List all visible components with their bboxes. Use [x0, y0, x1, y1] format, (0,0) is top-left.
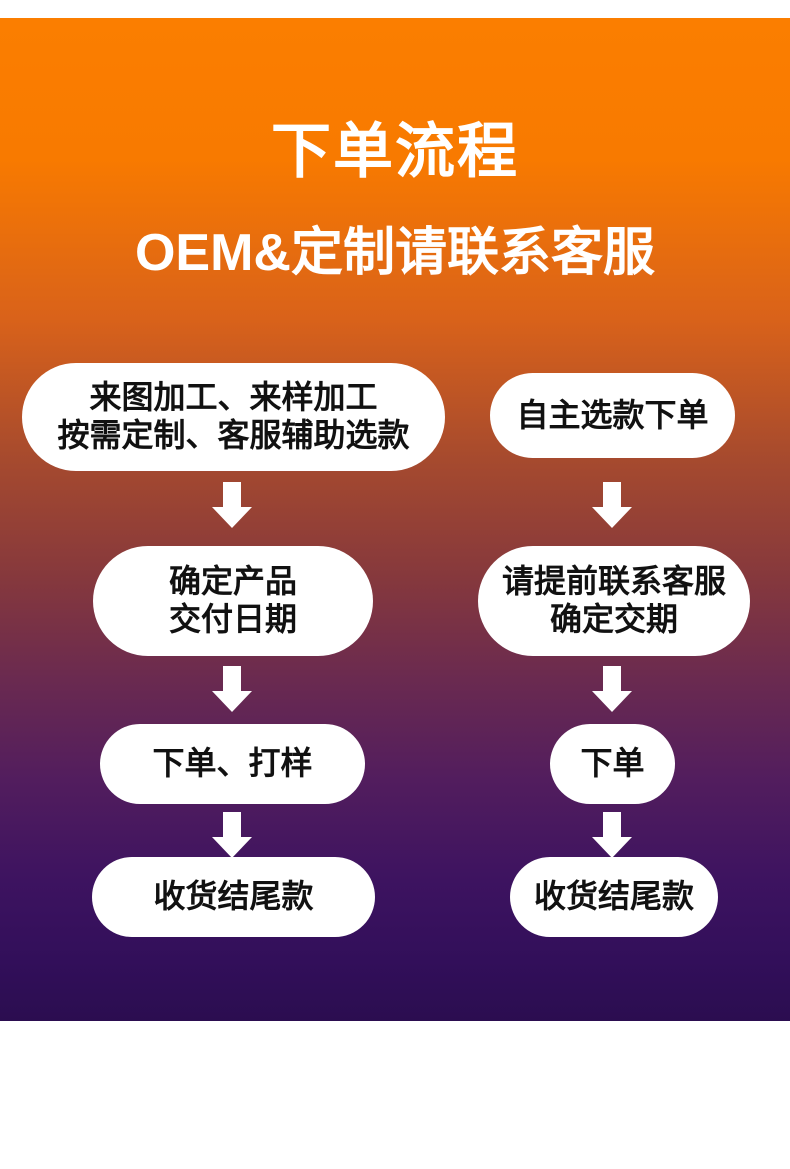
flow-node-right-step-3: 下单 [550, 724, 675, 804]
flow-node-line: 下单 [580, 745, 644, 783]
arrow-down-icon [212, 666, 252, 712]
page-subtitle: OEM&定制请联系客服 [0, 227, 790, 279]
flow-node-line: 自主选款下单 [516, 397, 708, 435]
flow-node-line: 来图加工、来样加工 [89, 379, 377, 417]
flow-node-line: 请提前联系客服 [502, 563, 726, 601]
flow-node-line: 按需定制、客服辅助选款 [57, 417, 409, 455]
flow-node-line: 收货结尾款 [534, 878, 694, 916]
flow-node-left-step-4: 收货结尾款 [92, 857, 375, 937]
flow-node-line: 确定交期 [550, 601, 678, 639]
arrow-down-icon [592, 812, 632, 858]
flow-node-line: 下单、打样 [152, 745, 312, 783]
flow-node-line: 交付日期 [169, 601, 297, 639]
arrow-down-icon [592, 666, 632, 712]
flow-node-right-step-2: 请提前联系客服 确定交期 [478, 546, 750, 656]
flow-node-right-step-1: 自主选款下单 [490, 373, 735, 458]
arrow-down-icon [592, 482, 632, 528]
flow-node-left-step-1: 来图加工、来样加工 按需定制、客服辅助选款 [22, 363, 445, 471]
flow-node-line: 确定产品 [169, 563, 297, 601]
flow-node-line: 收货结尾款 [153, 878, 313, 916]
order-process-infographic: 下单流程 OEM&定制请联系客服 来图加工、来样加工 按需定制、客服辅助选款 确… [0, 0, 790, 1169]
arrow-down-icon [212, 482, 252, 528]
page-title: 下单流程 [0, 122, 790, 182]
arrow-down-icon [212, 812, 252, 858]
flow-node-left-step-3: 下单、打样 [100, 724, 365, 804]
flow-node-left-step-2: 确定产品 交付日期 [93, 546, 373, 656]
flow-node-right-step-4: 收货结尾款 [510, 857, 718, 937]
